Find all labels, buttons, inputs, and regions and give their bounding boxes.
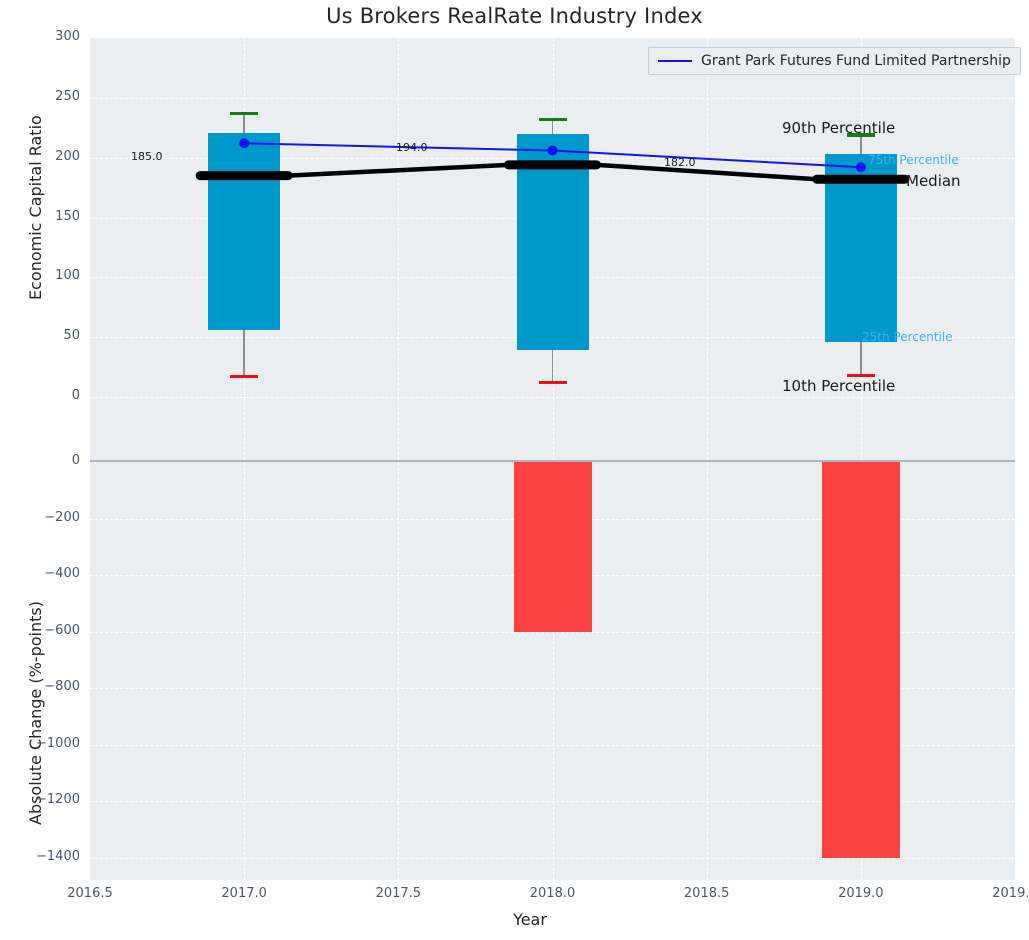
x-tick: 2019.0: [821, 886, 901, 901]
annotation-75th-percentile: 75th Percentile: [868, 153, 959, 167]
legend-line-swatch: [658, 60, 692, 62]
x-tick: 2018.0: [513, 886, 593, 901]
upper-y-tick: 250: [20, 89, 80, 104]
x-tick: 2016.5: [50, 886, 130, 901]
lower-y-tick: −400: [10, 566, 80, 581]
gridline-vertical: [244, 462, 245, 880]
upper-y-tick: 100: [20, 268, 80, 283]
percentile-box: [208, 133, 280, 330]
lower-y-tick: −1000: [10, 736, 80, 751]
upper-y-tick: 0: [20, 388, 80, 403]
absolute-change-bar: [822, 462, 900, 858]
lower-y-tick: 0: [10, 453, 80, 468]
absolute-change-bar: [514, 462, 592, 632]
lower-y-tick: −1200: [10, 792, 80, 807]
p10-cap: [230, 375, 258, 378]
lower-y-tick: −1400: [10, 849, 80, 864]
median-label-2018: 194.0: [396, 141, 428, 154]
x-axis-label: Year: [513, 910, 547, 929]
x-tick: 2018.5: [667, 886, 747, 901]
percentile-box: [517, 134, 589, 351]
gridline-vertical: [707, 38, 708, 460]
chart-title: Us Brokers RealRate Industry Index: [0, 4, 1029, 28]
x-tick: 2017.5: [358, 886, 438, 901]
gridline-vertical: [398, 462, 399, 880]
p90-cap: [230, 112, 258, 115]
annotation-25th-percentile: 25th Percentile: [862, 330, 953, 344]
x-tick: 2017.0: [204, 886, 284, 901]
chart-figure: Us Brokers RealRate Industry Index Econo…: [0, 0, 1029, 940]
upper-y-tick: 150: [20, 209, 80, 224]
p90-cap: [539, 118, 567, 121]
upper-y-tick: 50: [20, 328, 80, 343]
upper-y-tick: 300: [20, 29, 80, 44]
chart-legend[interactable]: Grant Park Futures Fund Limited Partners…: [648, 47, 1021, 75]
x-tick: 2019.5: [975, 886, 1029, 901]
lower-y-tick: −600: [10, 623, 80, 638]
annotation-median: Median: [906, 172, 961, 190]
annotation-90th-percentile: 90th Percentile: [782, 119, 895, 137]
annotation-10th-percentile: 10th Percentile: [782, 377, 895, 395]
gridline-vertical: [398, 38, 399, 460]
p10-cap: [539, 381, 567, 384]
upper-y-tick: 200: [20, 149, 80, 164]
legend-entry-label: Grant Park Futures Fund Limited Partners…: [701, 53, 1011, 69]
median-label-2019: 182.0: [664, 156, 696, 169]
gridline-vertical: [707, 462, 708, 880]
percentile-box: [825, 154, 897, 342]
median-label-2017: 185.0: [131, 150, 163, 163]
lower-y-tick: −800: [10, 679, 80, 694]
lower-y-tick: −200: [10, 510, 80, 525]
